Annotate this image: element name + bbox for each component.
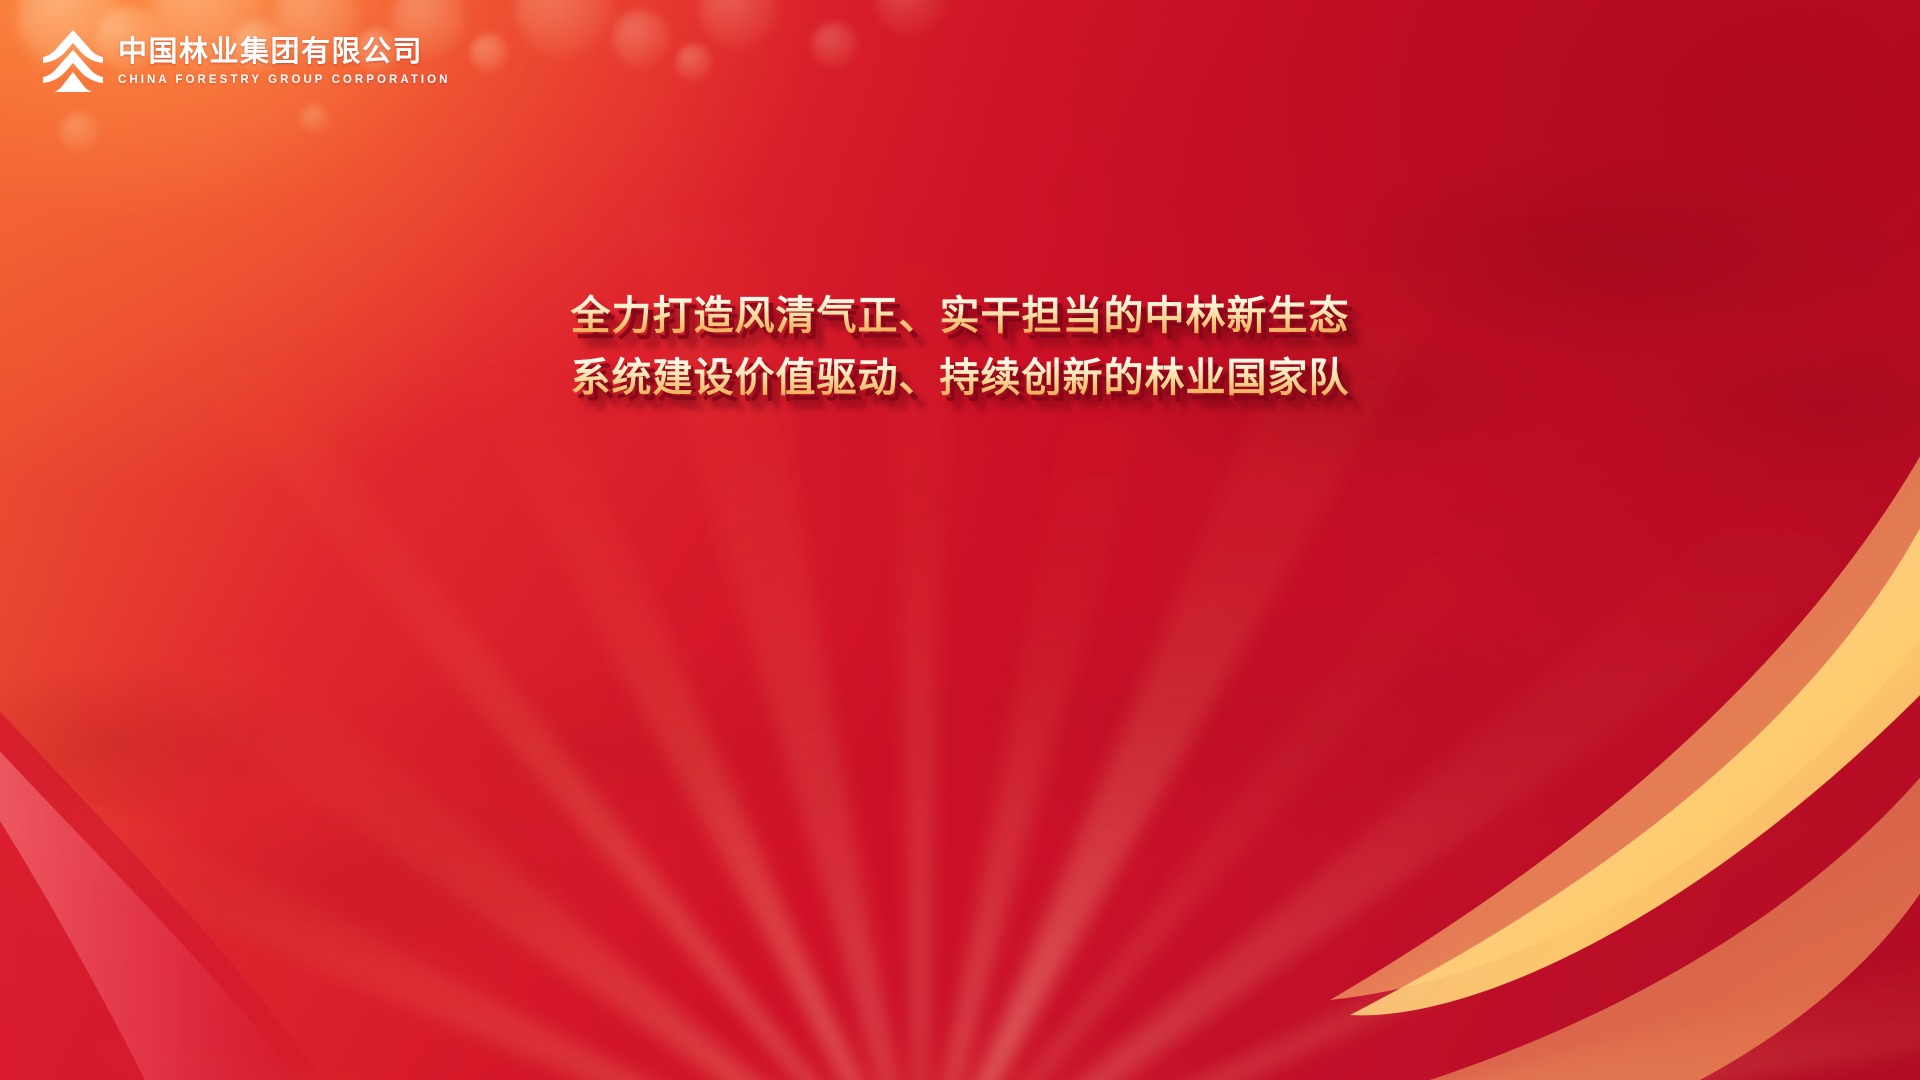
mountain-texture-bottom-left bbox=[0, 560, 700, 1020]
bokeh-circle bbox=[676, 44, 712, 80]
ribbon-decorations bbox=[0, 0, 1920, 1080]
headline-block: 全力打造风清气正、实干担当的中林新生态 系统建设价值驱动、持续创新的林业国家队 bbox=[0, 288, 1920, 407]
ribbon-gold-swoosh-outer bbox=[1330, 430, 1920, 1000]
brand-name-en: CHINA FORESTRY GROUP CORPORATION bbox=[118, 75, 451, 87]
light-ray bbox=[457, 330, 920, 1080]
bokeh-circle bbox=[470, 34, 508, 72]
mountain-texture-center bbox=[180, 520, 1580, 940]
bokeh-circle bbox=[300, 104, 330, 134]
bokeh-circle bbox=[612, 10, 670, 68]
bokeh-circle bbox=[700, 0, 778, 48]
bokeh-circle bbox=[60, 112, 100, 152]
forestry-pagoda-mark-icon bbox=[42, 28, 104, 94]
brand-logo-text: 中国林业集团有限公司 CHINA FORESTRY GROUP CORPORAT… bbox=[118, 35, 451, 86]
light-ray bbox=[74, 1019, 920, 1080]
ribbon-pink-highlight-left bbox=[0, 730, 305, 1080]
ribbon-pink-swoosh-left bbox=[0, 690, 330, 1080]
light-ray bbox=[920, 477, 1848, 1080]
light-ray bbox=[170, 619, 920, 1080]
light-ray bbox=[920, 926, 1920, 1080]
headline-line-1: 全力打造风清气正、实干担当的中林新生态 bbox=[26, 288, 1894, 344]
ribbon-gold-arc-lower bbox=[1430, 760, 1920, 1080]
brand-name-cn: 中国林业集团有限公司 bbox=[118, 37, 451, 68]
bokeh-circle bbox=[516, 0, 612, 56]
light-ray bbox=[179, 317, 920, 1080]
bokeh-circle bbox=[876, 0, 946, 34]
light-ray bbox=[0, 725, 920, 1080]
ribbon-gold-swoosh-inner bbox=[1350, 500, 1920, 1015]
poster-canvas: 中国林业集团有限公司 CHINA FORESTRY GROUP CORPORAT… bbox=[0, 0, 1920, 1080]
light-ray bbox=[920, 787, 1810, 1080]
light-ray bbox=[920, 488, 1522, 1080]
brand-logo[interactable]: 中国林业集团有限公司 CHINA FORESTRY GROUP CORPORAT… bbox=[42, 28, 451, 94]
light-ray bbox=[920, 374, 1153, 1080]
headline-line-2: 系统建设价值驱动、持续创新的林业国家队 bbox=[26, 350, 1894, 406]
bottom-warm-glow bbox=[0, 620, 1920, 1080]
bokeh-circle bbox=[812, 22, 858, 68]
